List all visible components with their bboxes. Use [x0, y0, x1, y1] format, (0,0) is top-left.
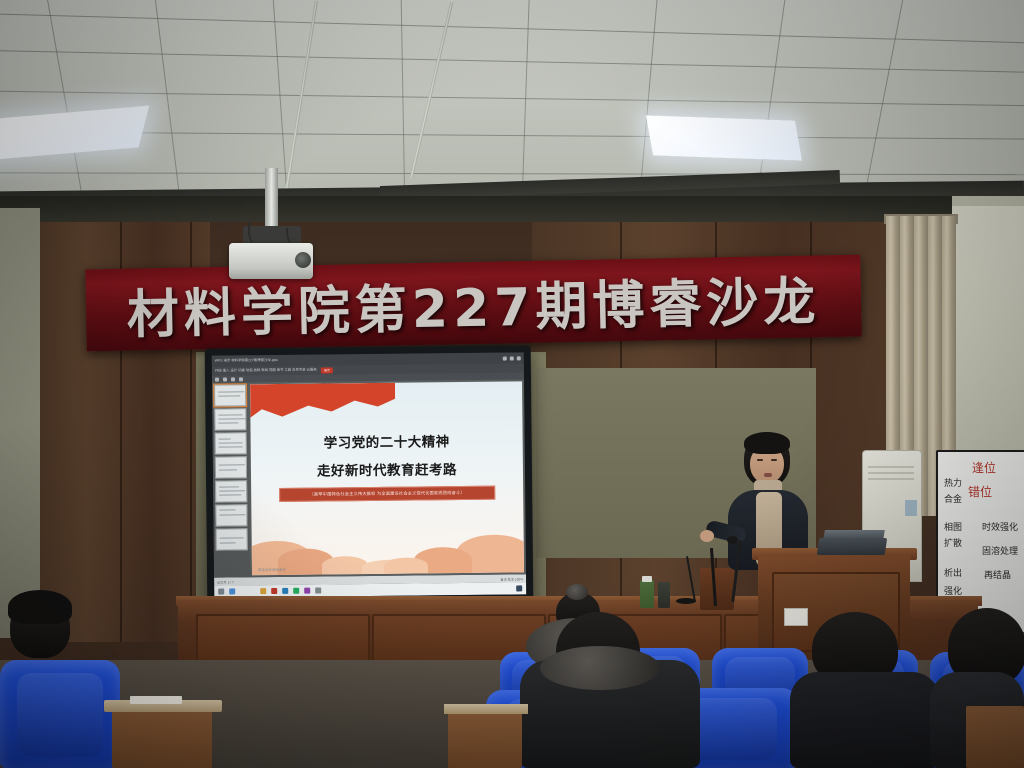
laptop[interactable] [817, 538, 887, 555]
panel-light-left [0, 106, 149, 161]
window-controls[interactable] [503, 356, 521, 360]
slide-thumbnail[interactable] [215, 432, 247, 454]
desk [448, 710, 522, 768]
audience-coat [790, 672, 940, 768]
event-banner: 材料学院第227期博睿沙龙 [85, 255, 861, 352]
desk [112, 706, 212, 768]
font-tool-icon[interactable] [215, 377, 219, 381]
slide-title-line2: 走好新时代教育赶考路 [251, 457, 523, 480]
zoom-status: 备注 批注 100% [500, 576, 523, 581]
stage-chair [700, 568, 734, 610]
stage-front-panel [196, 614, 370, 664]
minimize-icon[interactable] [503, 356, 507, 360]
wechat-icon[interactable] [293, 588, 299, 594]
slide-thumbnail[interactable] [215, 456, 247, 478]
presenter-hand [700, 530, 714, 542]
slide-thumbnail[interactable] [215, 480, 247, 502]
left-side-wall [0, 208, 40, 638]
slide-subtitle-text: （高举中国特色社会主义伟大旗帜 为全面建设社会主义现代化国家而团结奋斗） [310, 490, 465, 498]
color-tool-icon[interactable] [231, 377, 235, 381]
dark-bottle [658, 582, 670, 608]
slide-thumbnail[interactable] [214, 408, 246, 430]
projector-pole [265, 168, 278, 230]
presenter-hair [744, 432, 790, 454]
close-icon[interactable] [517, 356, 521, 360]
slide-note-text: 单击此处添加备注 [258, 568, 286, 573]
settings-icon[interactable] [315, 588, 321, 594]
clock-icon[interactable] [516, 585, 522, 591]
browser-icon[interactable] [282, 588, 288, 594]
presenter [700, 432, 830, 562]
wall-socket [784, 608, 808, 626]
ppt-titlebar-text: WPS 演示 材料学院第227期博睿沙龙.pptx [215, 359, 278, 363]
current-slide[interactable]: 学习党的二十大精神 走好新时代教育赶考路 （高举中国特色社会主义伟大旗帜 为全面… [250, 381, 524, 575]
projector-lens-icon [295, 252, 311, 268]
slide-thumbnail[interactable] [216, 528, 248, 550]
slide-subtitle-bar: （高举中国特色社会主义伟大旗帜 为全面建设社会主义现代化国家而团结奋斗） [279, 486, 495, 502]
panel-light-right [646, 115, 802, 160]
slide-counter: 幻灯片 1 / 7 [217, 579, 234, 584]
align-tool-icon[interactable] [239, 377, 243, 381]
thermos-cap [642, 576, 652, 582]
audience-fur-hood [540, 646, 660, 690]
wall-top-beam [0, 196, 1024, 222]
start-icon[interactable] [218, 589, 224, 595]
search-icon[interactable] [229, 588, 235, 594]
ac-control-panel[interactable] [905, 500, 917, 516]
desk-top [444, 704, 528, 714]
slide-thumbnail[interactable] [215, 504, 247, 526]
red-flag-graphic [250, 383, 395, 423]
slide-title-line1: 学习党的二十大精神 [251, 429, 523, 452]
paper-sheet [130, 696, 182, 704]
display-screen[interactable]: WPS 演示 材料学院第227期博睿沙龙.pptx 开始 插入 设计 切换 动画… [212, 352, 527, 597]
slide-thumbnail[interactable] [214, 384, 246, 406]
audience-hair-bun [566, 584, 588, 600]
media-icon[interactable] [304, 588, 310, 594]
microphone-base [676, 598, 696, 604]
podium-microphone-head [727, 536, 738, 544]
desk [966, 706, 1024, 768]
explorer-icon[interactable] [260, 588, 266, 594]
ppt-tab-list[interactable]: 开始 插入 设计 切换 动画 放映 审阅 视图 章节 工具 会员专享 云服务 [215, 368, 317, 372]
chair[interactable] [0, 660, 120, 768]
ppt-workspace: 学习党的二十大精神 走好新时代教育赶考路 （高举中国特色社会主义伟大旗帜 为全面… [212, 379, 526, 577]
bold-tool-icon[interactable] [223, 377, 227, 381]
green-thermos [640, 580, 654, 608]
maximize-icon[interactable] [510, 356, 514, 360]
photo-scene: 材料学院第227期博睿沙龙 WPS 演示 材料学院第227期博睿沙龙.pptx … [0, 0, 1024, 768]
display-screen-frame: WPS 演示 材料学院第227期博睿沙龙.pptx 开始 插入 设计 切换 动画… [205, 345, 534, 604]
ppt-app-icon[interactable] [271, 588, 277, 594]
audience-hair [8, 590, 72, 624]
ppt-present-badge[interactable]: 演示 [321, 367, 333, 373]
slide-thumbnail-panel[interactable] [212, 382, 250, 577]
